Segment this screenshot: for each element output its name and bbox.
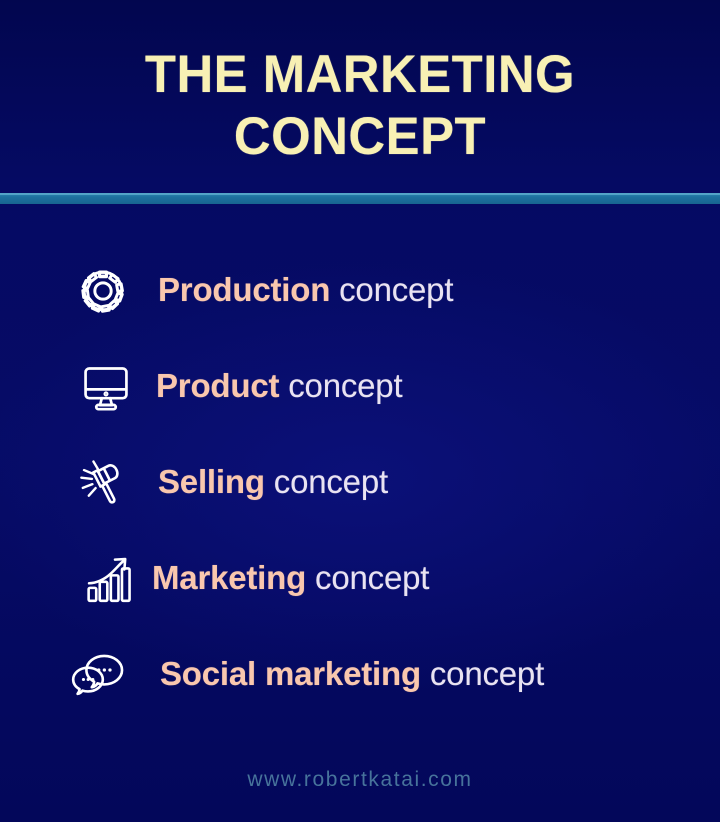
list-item-strong: Selling	[158, 463, 265, 500]
list-item-strong: Social marketing	[160, 655, 421, 692]
list-item-light: concept	[288, 367, 402, 404]
website-url: www.robertkatai.com	[247, 768, 472, 791]
list-item-light: concept	[339, 271, 453, 308]
desktop-monitor-icon	[80, 350, 156, 426]
list-item: Social marketing concept	[0, 627, 720, 723]
header-divider	[0, 193, 720, 204]
marketing-concept-poster: THE MARKETING CONCEPT	[0, 0, 720, 822]
list-item-label: Production concept	[158, 271, 453, 309]
page-title: THE MARKETING CONCEPT	[0, 44, 720, 168]
list-item-strong: Marketing	[152, 559, 306, 596]
list-item-light: concept	[315, 559, 429, 596]
list-item-label: Social marketing concept	[160, 655, 544, 693]
list-item-strong: Product	[156, 367, 279, 404]
list-item: Product concept	[0, 339, 720, 435]
list-item-strong: Production	[158, 271, 330, 308]
footer: www.robertkatai.com	[0, 768, 720, 792]
list-item-label: Selling concept	[158, 463, 388, 501]
list-item: Marketing concept	[0, 531, 720, 627]
gear-icon	[78, 253, 154, 329]
concept-list: Production concept Product concept	[0, 243, 720, 723]
speech-bubbles-icon	[70, 639, 146, 715]
list-item-light: concept	[430, 655, 544, 692]
megaphone-icon	[78, 446, 154, 522]
list-item-label: Product concept	[156, 367, 402, 405]
list-item-label: Marketing concept	[152, 559, 429, 597]
title-line-2: CONCEPT	[14, 106, 705, 168]
bar-chart-growth-icon	[84, 542, 160, 618]
list-item-light: concept	[274, 463, 388, 500]
title-line-1: THE MARKETING	[14, 44, 705, 106]
list-item: Production concept	[0, 243, 720, 339]
list-item: Selling concept	[0, 435, 720, 531]
